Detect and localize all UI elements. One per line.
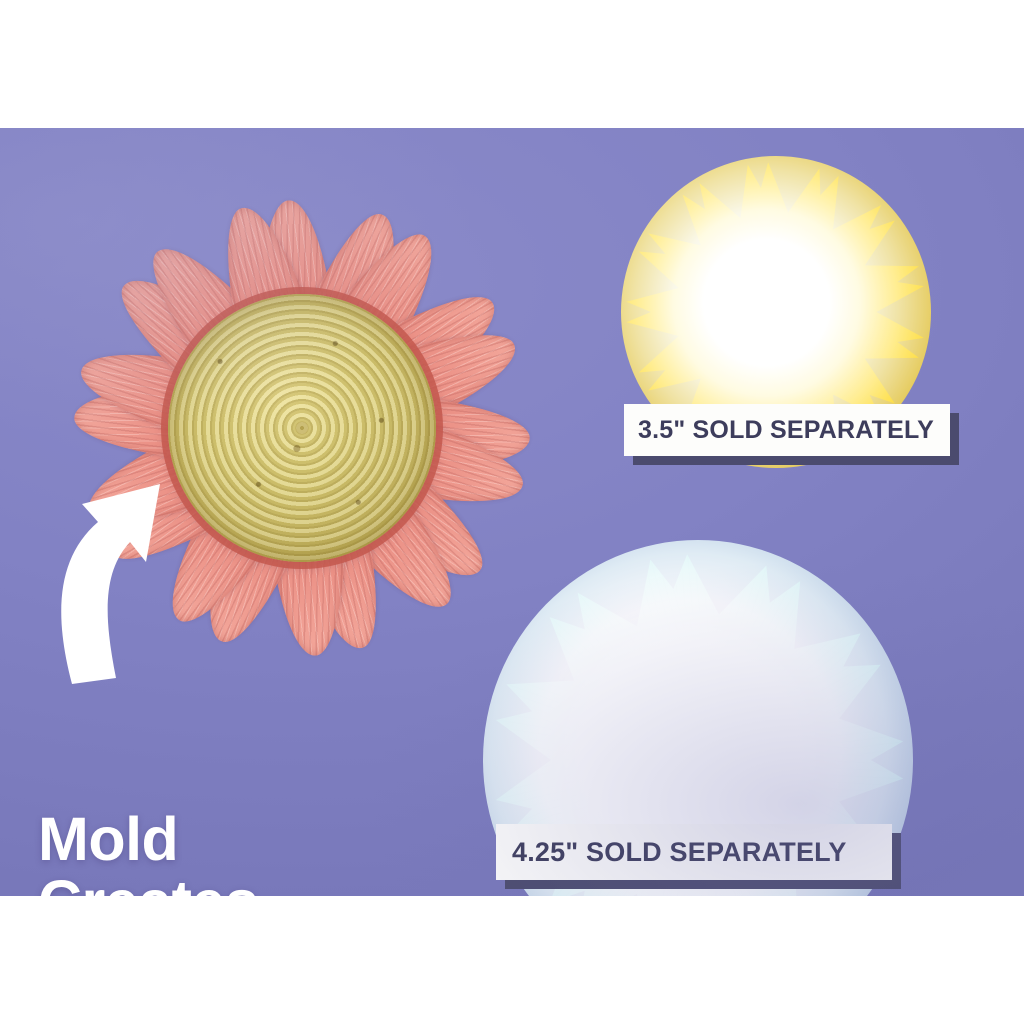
product-image: 3.5" SOLD SEPARATELY 4.25" SOLD SEPARATE… (0, 0, 1024, 1024)
product-photo-backdrop: 3.5" SOLD SEPARATELY 4.25" SOLD SEPARATE… (0, 128, 1024, 896)
badge-blue-label: 4.25" SOLD SEPARATELY (512, 837, 847, 868)
headline-line-2: Creates (38, 871, 413, 896)
curved-arrow-icon (20, 426, 210, 686)
headline-line-1: Mold (38, 808, 413, 871)
badge-4-25-inch-sold-separately: 4.25" SOLD SEPARATELY (496, 824, 892, 880)
badge-yellow-label: 3.5" SOLD SEPARATELY (638, 416, 934, 445)
headline-mold-creates-size: Mold Creates 5.25" Freshie (38, 808, 413, 896)
badge-3-5-inch-sold-separately: 3.5" SOLD SEPARATELY (624, 404, 950, 456)
